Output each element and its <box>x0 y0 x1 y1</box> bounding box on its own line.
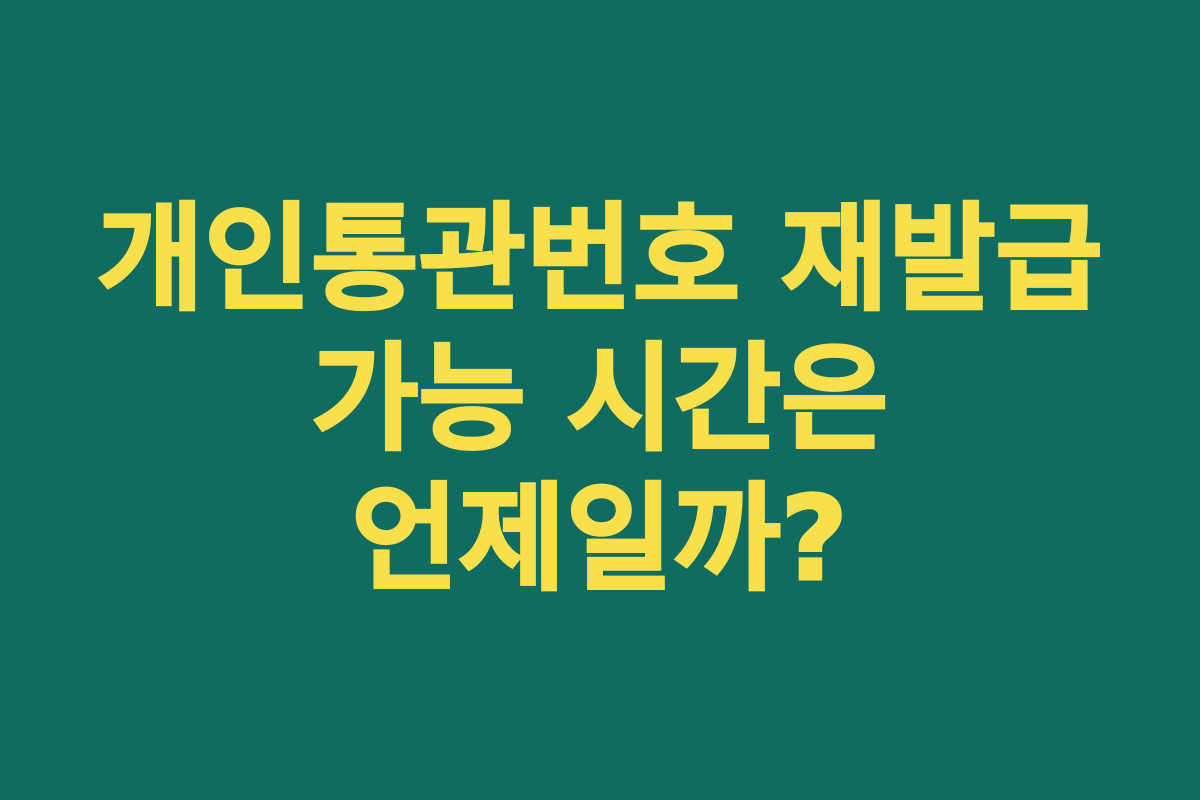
page-title: 개인통관번호 재발급 가능 시간은 언제일까? <box>85 190 1115 610</box>
poster-canvas: 개인통관번호 재발급 가능 시간은 언제일까? <box>0 0 1200 800</box>
headline-block: 개인통관번호 재발급 가능 시간은 언제일까? <box>85 190 1115 610</box>
